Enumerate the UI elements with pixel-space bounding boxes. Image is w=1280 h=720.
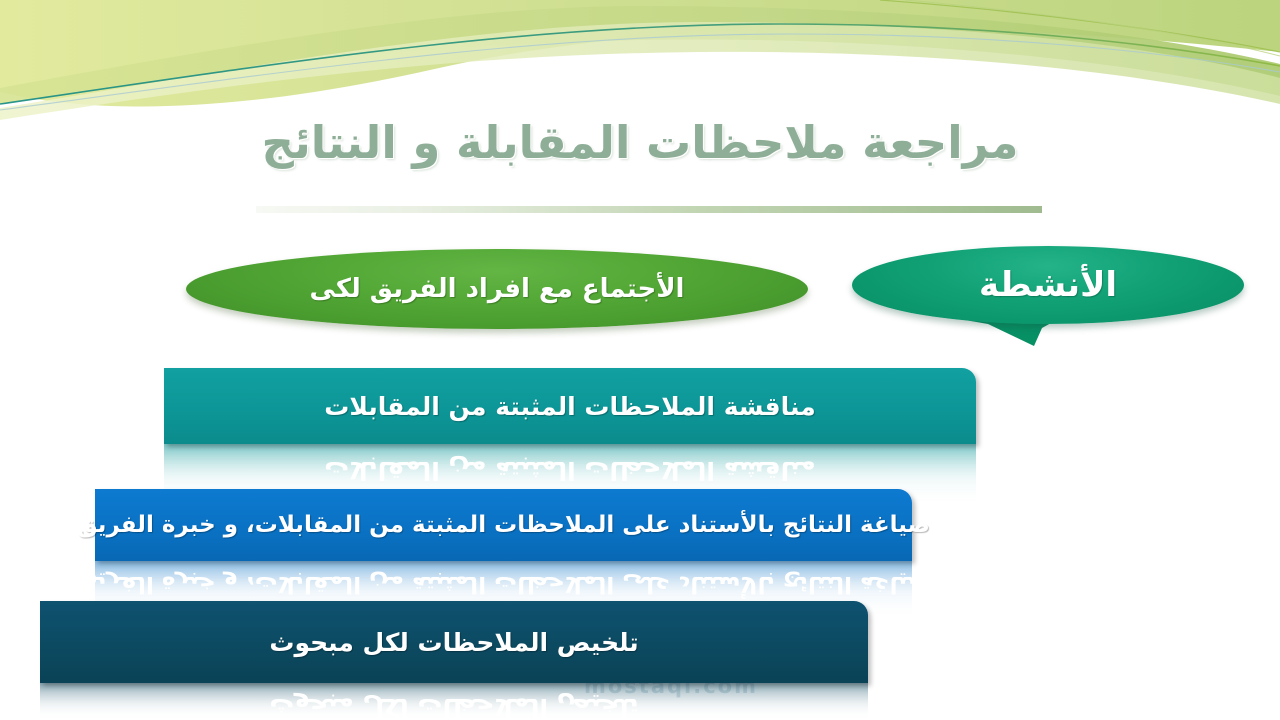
bar-reflection-1-label: مناقشة الملاحظات المثبتة من المقابلات — [324, 456, 816, 485]
slide-canvas: مراجعة ملاحظات المقابلة و النتائج الأجتم… — [0, 0, 1280, 720]
bar-item-2[interactable]: صياغة النتائج بالأستناد على الملاحظات ال… — [95, 489, 912, 561]
activity-ellipse-label: الأجتماع مع افراد الفريق لكى — [310, 274, 685, 304]
bar-item-1-label: مناقشة الملاحظات المثبتة من المقابلات — [324, 392, 816, 421]
bar-item-2-label: صياغة النتائج بالأستناد على الملاحظات ال… — [77, 512, 930, 538]
activity-ellipse[interactable]: الأجتماع مع افراد الفريق لكى — [186, 249, 808, 329]
bar-reflection-3: تلخيص الملاحظات لكل مبحوث — [40, 683, 868, 720]
bar-item-3[interactable]: تلخيص الملاحظات لكل مبحوث — [40, 601, 868, 683]
bar-item-1[interactable]: مناقشة الملاحظات المثبتة من المقابلات — [164, 368, 976, 444]
title-divider — [256, 206, 1042, 213]
slide-title: مراجعة ملاحظات المقابلة و النتائج — [0, 116, 1280, 169]
callout-body: الأنشطة — [852, 246, 1244, 324]
bar-reflection-3-label: تلخيص الملاحظات لكل مبحوث — [269, 693, 638, 720]
top-swoosh-decoration — [0, 0, 1280, 130]
callout-label: الأنشطة — [979, 265, 1117, 305]
activities-callout[interactable]: الأنشطة — [852, 246, 1244, 346]
bar-reflection-2-label: صياغة النتائج بالأستناد على الملاحظات ال… — [95, 571, 912, 597]
bar-item-3-label: تلخيص الملاحظات لكل مبحوث — [269, 628, 638, 657]
